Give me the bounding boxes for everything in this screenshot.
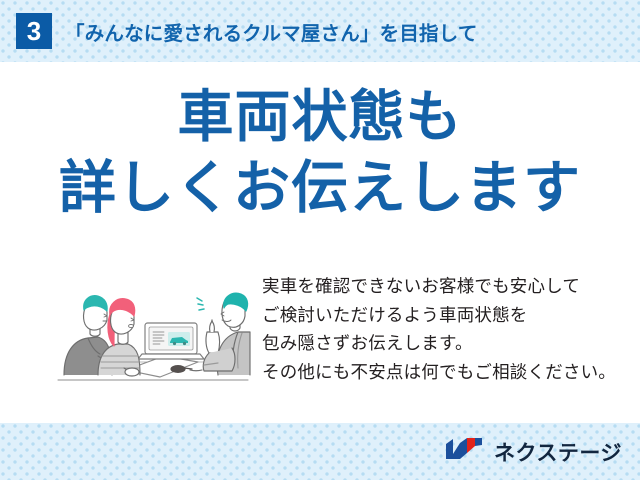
headline-line-2: 詳しくお伝えします [0, 159, 640, 217]
brand-logo: ネクステージ [444, 436, 622, 467]
content-area: 車両状態も 詳しくお伝えします [0, 62, 640, 423]
lower-row: 実車を確認できないお客様でも安心して ご検討いただけるよう車両状態を 包み隠さず… [0, 270, 640, 400]
paragraph-line-3: 包み隠さずお伝えします。 [262, 329, 624, 358]
desk-pen [171, 366, 192, 373]
staff-member [190, 293, 250, 375]
description-paragraph: 実車を確認できないお客様でも安心して ご検討いただけるよう車両状態を 包み隠さず… [262, 272, 624, 386]
headline: 車両状態も 詳しくお伝えします [0, 88, 640, 217]
promotional-banner: 3 「みんなに愛されるクルマ屋さん」を目指して 車両状態も 詳しくお伝えします [0, 0, 640, 480]
footer-band: ネクステージ [0, 423, 640, 480]
headline-line-1: 車両状態も [0, 88, 640, 145]
header-title: 「みんなに愛されるクルマ屋さん」を目指して [65, 17, 478, 46]
nextage-n-mark-icon [444, 436, 486, 467]
brand-name: ネクステージ [494, 437, 622, 467]
consultation-illustration [52, 270, 254, 388]
paragraph-line-1: 実車を確認できないお客様でも安心して [262, 272, 624, 301]
paragraph-line-4: その他にも不安点は何でもご相談ください。 [262, 358, 624, 387]
speech-lines [197, 298, 204, 310]
laptop [138, 323, 204, 359]
paragraph-line-2: ご検討いただけるよう車両状態を [262, 301, 624, 330]
step-number-badge: 3 [16, 13, 52, 49]
header-band: 3 「みんなに愛されるクルマ屋さん」を目指して [0, 0, 640, 62]
